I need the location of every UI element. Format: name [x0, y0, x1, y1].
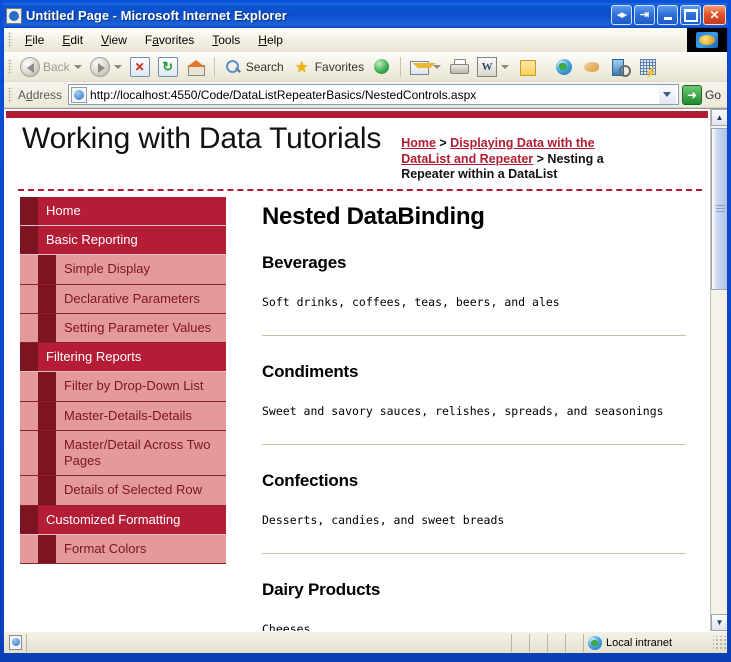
sticky-note-icon [517, 57, 537, 77]
breadcrumb-separator-1: > [436, 136, 450, 150]
breadcrumb-link-home[interactable]: Home [401, 136, 436, 150]
sidebar-item-details-of-selected-row[interactable]: Details of Selected Row [20, 476, 226, 505]
research-button[interactable] [606, 55, 634, 79]
back-button[interactable]: Back [16, 55, 86, 79]
category-item: Confections Desserts, candies, and sweet… [262, 471, 686, 554]
menu-bar: File Edit View Favorites Tools Help [4, 28, 727, 52]
address-grip-handle[interactable] [8, 87, 12, 103]
page-title: Nested DataBinding [262, 203, 686, 231]
menu-view[interactable]: View [92, 30, 136, 50]
stop-icon [130, 57, 150, 77]
browser-chrome: File Edit View Favorites Tools Help Back [3, 28, 728, 653]
category-description: Cheeses [262, 622, 686, 631]
category-item: Dairy Products Cheeses [262, 580, 686, 631]
menu-edit[interactable]: Edit [53, 30, 92, 50]
security-zone-label: Local intranet [606, 637, 672, 649]
sidebar-item-format-colors[interactable]: Format Colors [20, 535, 226, 564]
status-bar: Local intranet [4, 631, 727, 653]
address-label: Address [16, 88, 68, 102]
toolbar-separator-2 [400, 57, 401, 77]
ie-window-icon [6, 8, 22, 24]
restore-group-button[interactable] [611, 5, 632, 25]
word-icon [477, 57, 497, 77]
sidebar-item-filter-by-drop-down-list[interactable]: Filter by Drop-Down List [20, 372, 226, 401]
green-globe-icon [372, 57, 392, 77]
favorites-button-label: Favorites [315, 60, 364, 74]
forward-button[interactable] [86, 55, 126, 79]
ie-brand-logo [687, 28, 727, 52]
home-button[interactable] [182, 55, 210, 79]
search-button[interactable]: Search [219, 55, 288, 79]
toolbar-grip-handle[interactable] [8, 59, 12, 75]
category-description: Desserts, candies, and sweet breads [262, 513, 686, 527]
go-arrow-icon [682, 85, 702, 105]
notes-button[interactable] [513, 55, 541, 79]
send-window-button[interactable] [634, 5, 655, 25]
menu-favorites[interactable]: Favorites [136, 30, 203, 50]
page-body: Home Basic Reporting Simple Display Decl… [4, 191, 710, 631]
site-title: Working with Data Tutorials [22, 122, 381, 155]
vertical-scrollbar[interactable]: ▲ ▼ [710, 109, 727, 631]
status-pane-4 [565, 634, 583, 652]
breadcrumb: Home > Displaying Data with the DataList… [391, 122, 641, 183]
printer-icon [449, 57, 469, 77]
address-url-text: http://localhost:4550/Code/DataListRepea… [90, 88, 659, 102]
search-icon [223, 57, 243, 77]
menu-grip-handle[interactable] [8, 32, 12, 48]
address-input[interactable]: http://localhost:4550/Code/DataListRepea… [68, 84, 679, 105]
status-pane-1 [511, 634, 529, 652]
sidebar-nav: Home Basic Reporting Simple Display Decl… [20, 197, 226, 564]
resize-grip[interactable] [713, 636, 727, 650]
category-name: Condiments [262, 362, 686, 382]
web-page: Working with Data Tutorials Home > Displ… [4, 109, 710, 631]
breadcrumb-separator-2: > [533, 152, 547, 166]
page-header: Working with Data Tutorials Home > Displ… [4, 118, 710, 183]
main-content: Nested DataBinding Beverages Soft drinks… [226, 197, 710, 631]
sidebar-item-master-details-details[interactable]: Master-Details-Details [20, 402, 226, 431]
sidebar-item-basic-reporting[interactable]: Basic Reporting [20, 226, 226, 255]
category-divider [262, 553, 686, 554]
sidebar-item-master-detail-two-pages[interactable]: Master/Detail Across Two Pages [20, 431, 226, 477]
category-divider [262, 335, 686, 336]
go-button-label: Go [705, 88, 721, 102]
back-button-label: Back [43, 60, 70, 74]
html-grid-icon [638, 57, 658, 77]
menu-help[interactable]: Help [249, 30, 292, 50]
status-pane-2 [529, 634, 547, 652]
window-title: Untitled Page - Microsoft Internet Explo… [26, 8, 287, 23]
windows-flag-icon [696, 32, 718, 48]
close-button[interactable] [703, 5, 726, 25]
toolbar-separator [214, 57, 215, 77]
mail-icon [409, 57, 429, 77]
messenger-icon [582, 57, 602, 77]
stop-button[interactable] [126, 55, 154, 79]
category-name: Confections [262, 471, 686, 491]
sidebar-item-declarative-parameters[interactable]: Declarative Parameters [20, 285, 226, 314]
status-message-pane [26, 634, 511, 652]
window-controls [611, 5, 726, 25]
menu-file[interactable]: File [16, 30, 53, 50]
category-item: Condiments Sweet and savory sauces, reli… [262, 362, 686, 445]
toolbar-spacer [545, 57, 546, 77]
sidebar-item-filtering-reports[interactable]: Filtering Reports [20, 343, 226, 372]
back-history-chevron-down-icon[interactable] [74, 65, 82, 69]
edit-chevron-down-icon[interactable] [501, 65, 509, 69]
sidebar-item-simple-display[interactable]: Simple Display [20, 255, 226, 284]
menu-tools[interactable]: Tools [203, 30, 249, 50]
category-item: Beverages Soft drinks, coffees, teas, be… [262, 253, 686, 336]
earth-tool-button[interactable] [550, 55, 578, 79]
research-magnifier-icon [610, 57, 630, 77]
document-icon [9, 635, 22, 650]
forward-arrow-icon [90, 57, 110, 77]
mail-button[interactable] [405, 55, 445, 79]
minimize-button[interactable] [657, 5, 678, 25]
refresh-button[interactable] [154, 55, 182, 79]
page-viewport: Working with Data Tutorials Home > Displ… [4, 108, 727, 631]
category-name: Beverages [262, 253, 686, 273]
address-chevron-down-icon[interactable] [659, 85, 676, 104]
sidebar-item-customized-formatting[interactable]: Customized Formatting [20, 506, 226, 535]
category-divider [262, 444, 686, 445]
status-document-icon [4, 635, 26, 650]
edit-in-word-button[interactable] [473, 55, 513, 79]
star-icon [292, 57, 312, 77]
forward-history-chevron-down-icon[interactable] [114, 65, 122, 69]
back-arrow-icon [20, 57, 40, 77]
search-button-label: Search [246, 60, 284, 74]
sidebar-item-home[interactable]: Home [20, 197, 226, 226]
refresh-icon [158, 57, 178, 77]
scrollbar-thumb[interactable] [711, 128, 727, 290]
scroll-down-button[interactable]: ▼ [711, 614, 727, 631]
media-button[interactable] [368, 55, 396, 79]
category-description: Soft drinks, coffees, teas, beers, and a… [262, 295, 686, 309]
print-button[interactable] [445, 55, 473, 79]
security-zone-pane[interactable]: Local intranet [583, 634, 711, 652]
sidebar-item-setting-parameter-values[interactable]: Setting Parameter Values [20, 314, 226, 343]
maximize-button[interactable] [680, 5, 701, 25]
ie-browser-window: Untitled Page - Microsoft Internet Explo… [0, 0, 731, 662]
page-favicon-icon [71, 87, 87, 103]
category-name: Dairy Products [262, 580, 686, 600]
title-bar: Untitled Page - Microsoft Internet Explo… [3, 3, 728, 28]
go-button[interactable]: Go [679, 85, 725, 105]
category-description: Sweet and savory sauces, relishes, sprea… [262, 404, 686, 418]
intranet-zone-globe-icon [588, 636, 602, 650]
navigation-toolbar: Back Search Favorites [4, 52, 727, 82]
scroll-up-button[interactable]: ▲ [711, 109, 727, 126]
status-pane-3 [547, 634, 565, 652]
address-bar: Address http://localhost:4550/Code/DataL… [4, 82, 727, 108]
page-top-accent-bar [6, 111, 708, 118]
earth-globe-icon [554, 57, 574, 77]
html-tools-button[interactable] [634, 55, 662, 79]
favorites-button[interactable]: Favorites [288, 55, 368, 79]
messenger-button[interactable] [578, 55, 606, 79]
home-icon [186, 57, 206, 77]
